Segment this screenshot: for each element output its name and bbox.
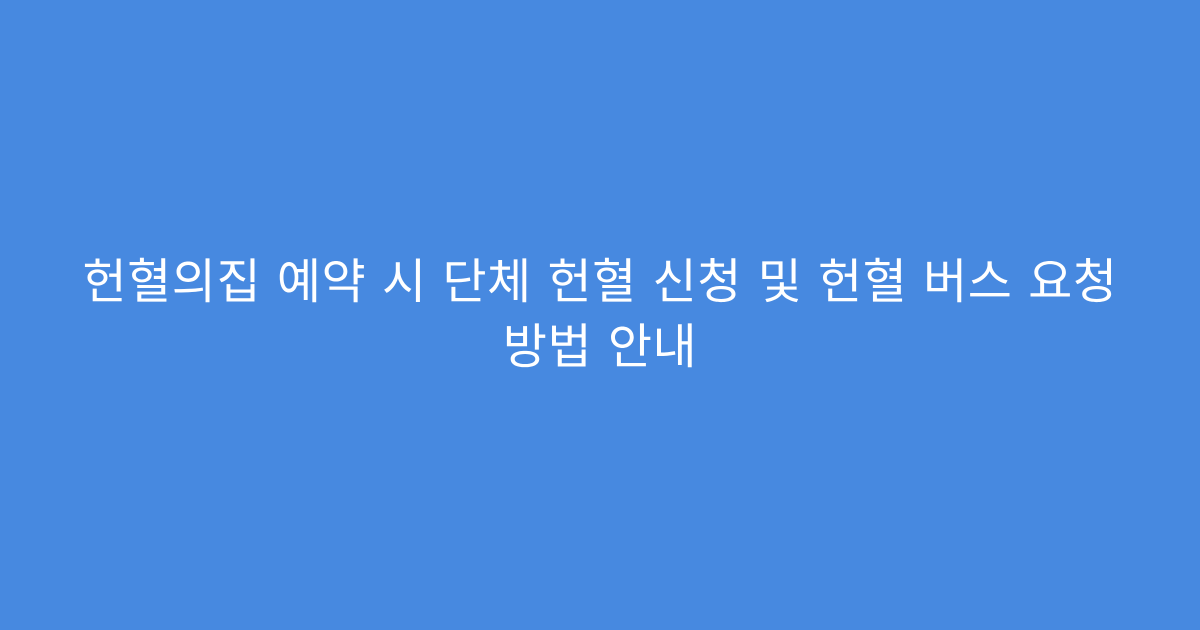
title-block: 헌혈의집 예약 시 단체 헌혈 신청 및 헌혈 버스 요청 방법 안내 (0, 250, 1200, 380)
page-title: 헌혈의집 예약 시 단체 헌혈 신청 및 헌혈 버스 요청 방법 안내 (50, 250, 1150, 380)
social-share-card: 헌혈의집 예약 시 단체 헌혈 신청 및 헌혈 버스 요청 방법 안내 (0, 0, 1200, 630)
